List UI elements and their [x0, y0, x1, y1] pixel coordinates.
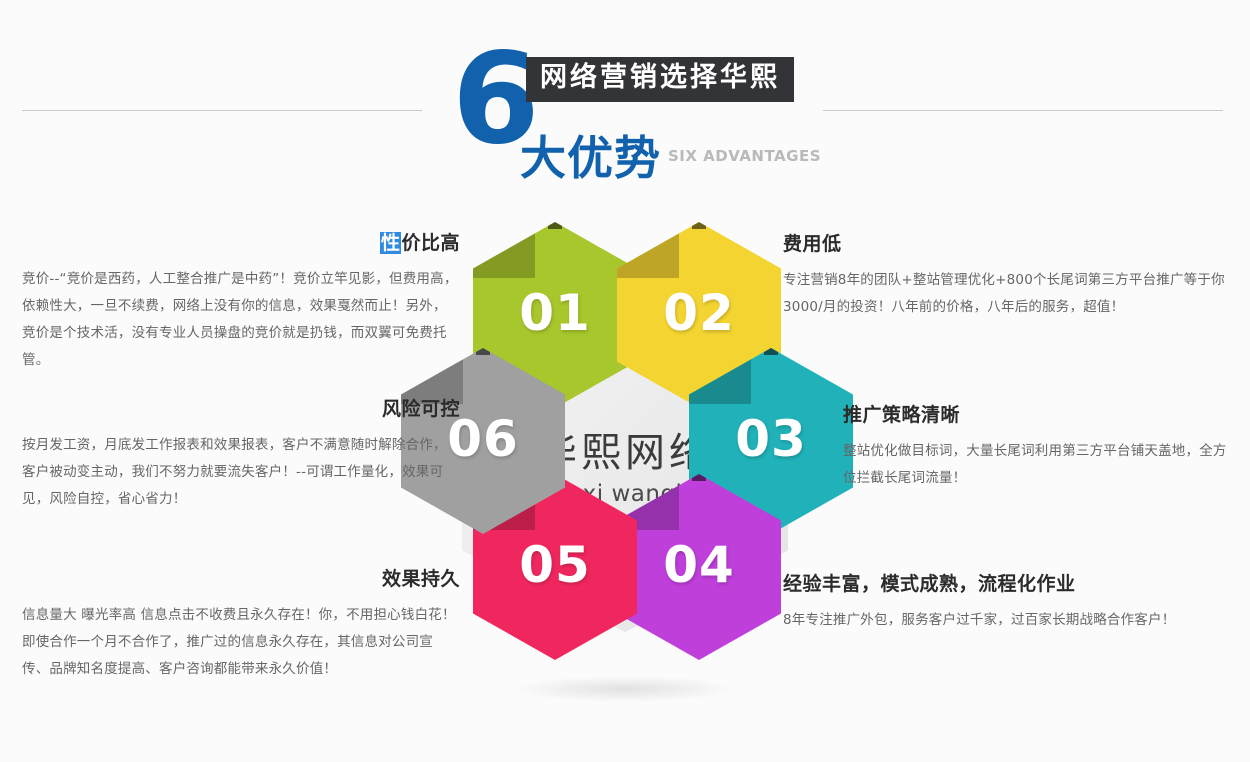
advantage-block-05: 效果持久 信息量大 曝光率高 信息点击不收费且永久存在！你，不用担心钱白花！即使… — [22, 568, 460, 683]
advantage-title-highlight: 性 — [380, 232, 402, 254]
header-subtitle-cn: 大优势 — [520, 135, 661, 181]
advantage-title-01: 性价比高 — [22, 232, 460, 255]
advantage-body-01: 竞价--“竞价是西药，人工整合推广是中药”！竞价立竿见影，但费用高，依赖性大，一… — [22, 266, 460, 374]
hexagon-number: 05 — [473, 540, 637, 590]
advantage-title-03: 推广策略清晰 — [843, 404, 1235, 427]
header-divider-left — [22, 110, 422, 111]
hexagon-number: 01 — [473, 288, 637, 338]
advantage-title-rest: 价比高 — [401, 232, 460, 254]
page-header: 6 网络营销选择华熙 大优势 SIX ADVANTAGES — [452, 42, 812, 172]
hexagon-fold-shade — [617, 222, 679, 278]
advantage-block-02: 费用低 专注营销8年的团队+整站管理优化+800个长尾词第三方平台推广等于你30… — [783, 233, 1233, 321]
advantage-block-01: 性价比高 竞价--“竞价是西药，人工整合推广是中药”！竞价立竿见影，但费用高，依… — [22, 232, 460, 374]
advantage-block-06: 风险可控 按月发工资，月底发工作报表和效果报表，客户不满意随时解除合作，客户被动… — [22, 398, 460, 513]
advantage-title-04: 经验丰富，模式成熟，流程化作业 — [783, 573, 1235, 596]
advantage-body-03: 整站优化做目标词，大量长尾词利用第三方平台铺天盖地，全方位拦截长尾词流量！ — [843, 438, 1235, 492]
header-divider-right — [823, 110, 1223, 111]
advantage-body-02: 专注营销8年的团队+整站管理优化+800个长尾词第三方平台推广等于你3000/月… — [783, 267, 1233, 321]
hexagon-number: 02 — [617, 288, 781, 338]
advantage-block-03: 推广策略清晰 整站优化做目标词，大量长尾词利用第三方平台铺天盖地，全方位拦截长尾… — [843, 404, 1235, 492]
hexagon-number: 03 — [689, 414, 853, 464]
header-subtitle-en: SIX ADVANTAGES — [668, 147, 821, 165]
cluster-ground-shadow — [515, 676, 735, 702]
hexagon-fold-shade — [473, 222, 535, 278]
hexagon-number: 04 — [617, 540, 781, 590]
infographic-page: 6 网络营销选择华熙 大优势 SIX ADVANTAGES 华熙网络 huaxi… — [0, 0, 1250, 762]
advantage-title-05: 效果持久 — [22, 568, 460, 591]
advantage-body-06: 按月发工资，月底发工作报表和效果报表，客户不满意随时解除合作，客户被动变主动，我… — [22, 432, 460, 513]
advantage-title-06: 风险可控 — [22, 398, 460, 421]
advantage-block-04: 经验丰富，模式成熟，流程化作业 8年专注推广外包，服务客户过千家，过百家长期战略… — [783, 573, 1235, 634]
hexagon-notch-icon — [548, 222, 562, 229]
header-title-bar: 网络营销选择华熙 — [526, 57, 794, 102]
hexagon-notch-icon — [692, 222, 706, 229]
advantage-body-04: 8年专注推广外包，服务客户过千家，过百家长期战略合作客户！ — [783, 607, 1235, 634]
advantage-title-02: 费用低 — [783, 233, 1233, 256]
advantage-body-05: 信息量大 曝光率高 信息点击不收费且永久存在！你，不用担心钱白花！即使合作一个月… — [22, 602, 460, 683]
